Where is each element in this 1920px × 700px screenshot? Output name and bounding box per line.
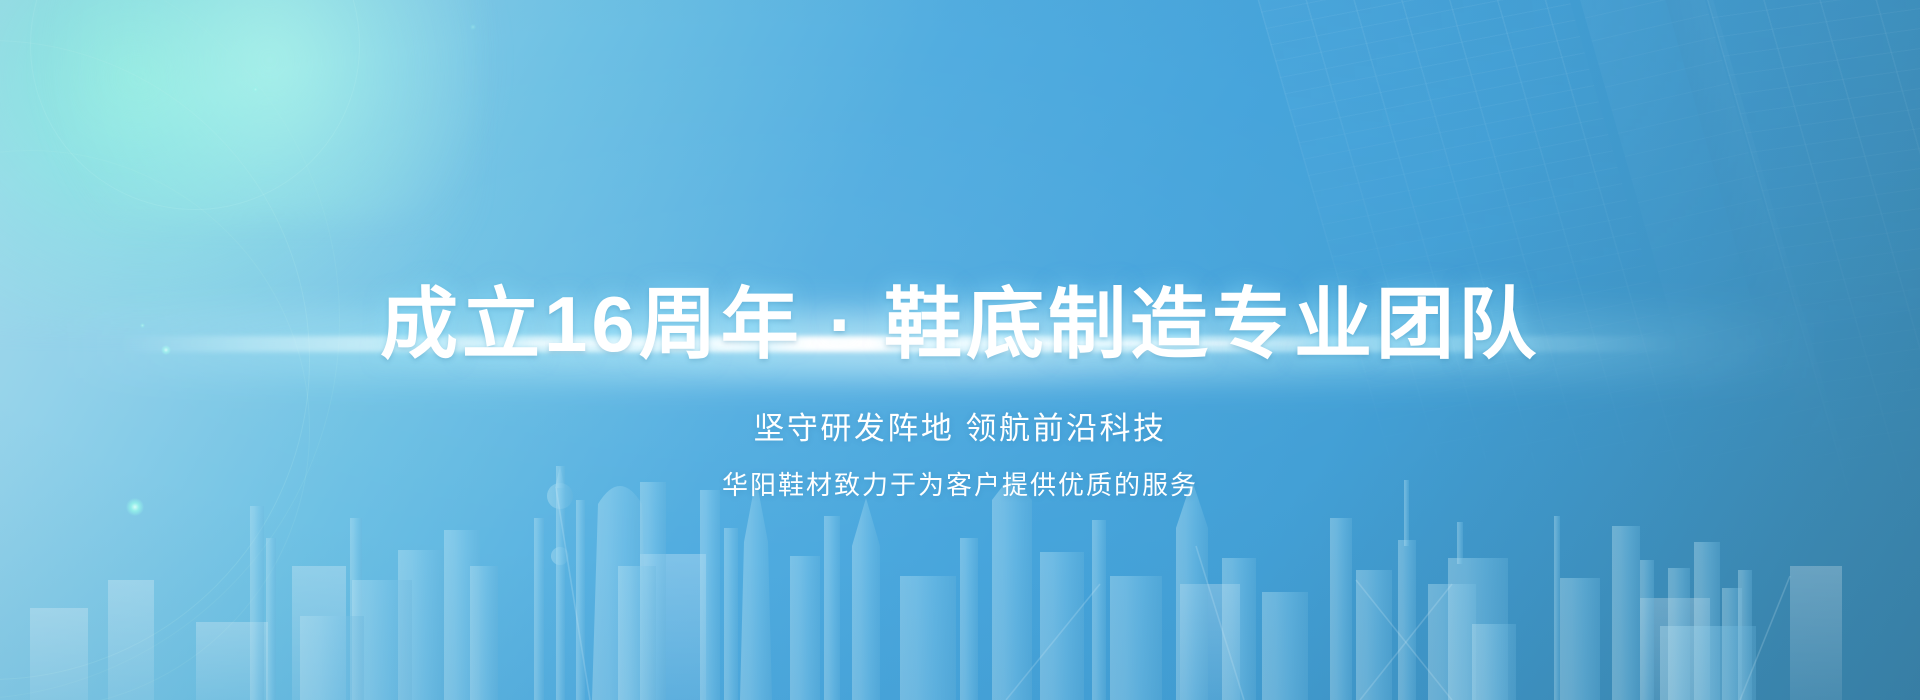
hero-banner: 成立16周年 · 鞋底制造专业团队 坚守研发阵地 领航前沿科技 华阳鞋材致力于为… [0, 0, 1920, 700]
decorative-arc [30, 0, 360, 210]
banner-headline: 成立16周年 · 鞋底制造专业团队 [0, 285, 1920, 363]
facade-panel-center [1492, 0, 1857, 560]
decorative-arc [0, 40, 310, 680]
facade-edge [1574, 0, 1873, 567]
city-skyline-silhouette [0, 370, 1920, 700]
light-particle [470, 24, 476, 30]
light-streak [120, 336, 1680, 352]
light-particle [140, 323, 145, 328]
banner-subline: 坚守研发阵地 领航前沿科技 [0, 413, 1920, 444]
vignette-overlay [0, 0, 1920, 700]
light-particle [161, 345, 171, 355]
light-particle [126, 498, 144, 516]
light-streak-glow [60, 312, 1820, 378]
aqua-glow-inner [40, 0, 500, 220]
decorative-arc [0, 0, 340, 700]
light-particle [252, 86, 259, 93]
facade-panel-right [1618, 0, 1920, 556]
banner-tagline: 华阳鞋材致力于为客户提供优质的服务 [0, 472, 1920, 498]
glass-skyscraper-photo [1182, 0, 1920, 669]
decorative-arc [0, 150, 310, 700]
facade-panel-left [1200, 0, 1744, 664]
aqua-glow [0, 0, 480, 330]
light-streak-core [420, 341, 1320, 346]
